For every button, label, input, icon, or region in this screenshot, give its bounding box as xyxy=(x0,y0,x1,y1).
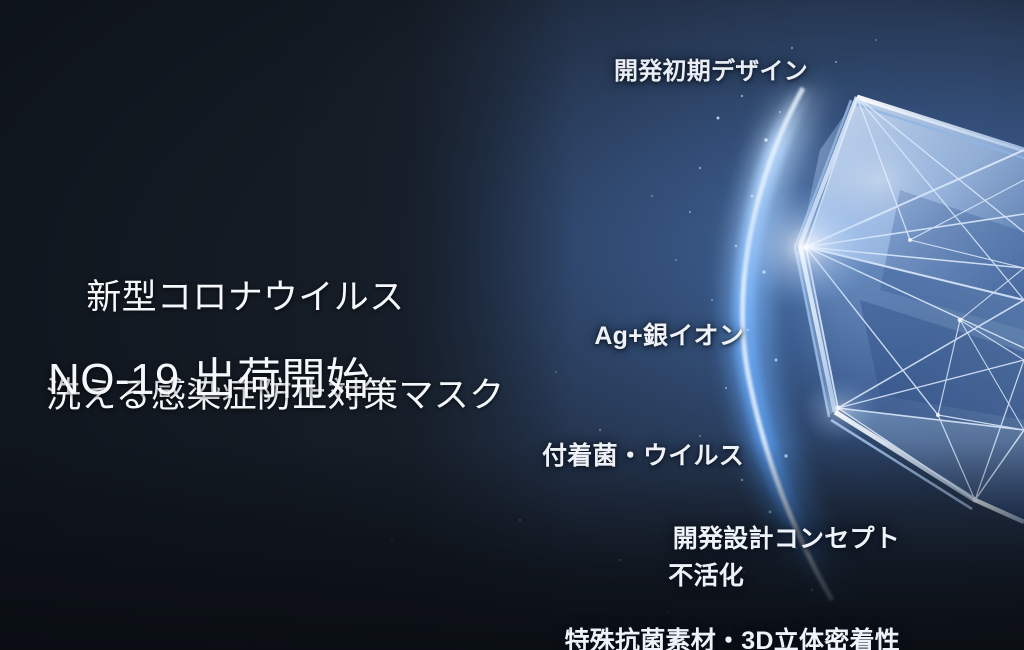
caption-bottom-line2: 特殊抗菌素材・3D立体密着性 xyxy=(400,624,900,650)
page-subtitle: NO-19 出荷開始 xyxy=(48,352,370,408)
slide-canvas: 開発初期デザイン Ag+銀イオン 付着菌・ウイルス 不活化 開発設計コンセプト … xyxy=(0,0,1024,650)
caption-top: 開発初期デザイン xyxy=(614,56,808,88)
caption-bottom-line1: 開発設計コンセプト xyxy=(400,522,900,556)
headline-line1: 新型コロナウイルス xyxy=(86,278,404,317)
